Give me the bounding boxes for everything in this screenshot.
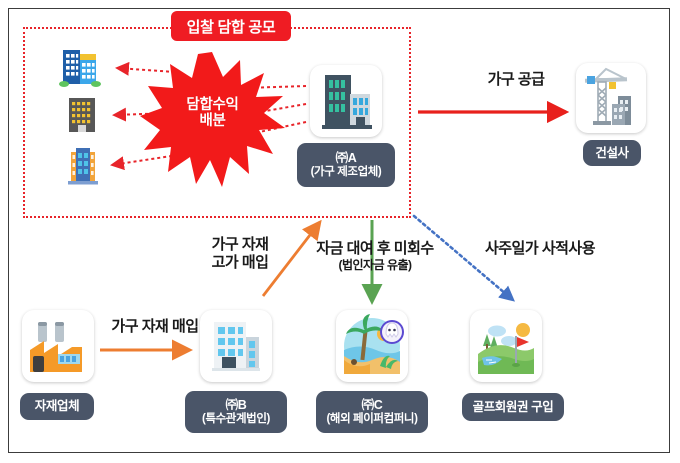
office-building-orange-icon [60, 142, 106, 188]
island-paper-company-icon [336, 310, 408, 382]
starburst-label: 담합수익 배분 [140, 97, 285, 129]
overpriced-buy-line2: 고가 매입 [212, 254, 269, 271]
diagram-canvas: 입찰 담합 공모 [0, 0, 680, 463]
office-building-blue-icon [57, 44, 103, 90]
golf-course-icon [470, 310, 542, 382]
company-c-label-pill: ㈜C (해외 페이퍼컴퍼니) [316, 391, 428, 433]
title-badge: 입찰 담합 공모 [171, 11, 291, 41]
profit-distribution-starburst: 담합수익 배분 [140, 50, 285, 190]
loan-line1: 자금 대여 후 미회수 [316, 240, 433, 257]
starburst-line2: 배분 [199, 113, 225, 129]
company-a-name: ㈜A [336, 151, 357, 166]
company-c-name: ㈜C [362, 398, 383, 413]
company-a-desc: (가구 제조업체) [311, 166, 382, 180]
golf-membership-icon-card [470, 310, 542, 382]
company-b-label-pill: ㈜B (특수관계법인) [185, 391, 287, 433]
material-buy-label: 가구 자재 매입 [100, 318, 210, 336]
golf-membership-name: 골프회원권 구입 [473, 400, 554, 415]
office-building-gray-icon [59, 92, 105, 138]
private-use-label: 사주일가 사적사용 [460, 240, 620, 258]
overpriced-buy-label: 가구 자재 고가 매입 [185, 236, 295, 273]
factory-office-icon [310, 65, 382, 137]
overpriced-buy-line1: 가구 자재 [212, 236, 269, 253]
factory-icon [22, 310, 94, 382]
company-b-icon-card [200, 310, 272, 382]
company-c-icon-card [336, 310, 408, 382]
construction-co-label-pill: 건설사 [583, 140, 641, 166]
construction-co-icon-card [576, 63, 646, 133]
construction-co-name: 건설사 [595, 146, 628, 161]
crane-construction-icon [576, 63, 646, 133]
title-badge-label: 입찰 담합 공모 [187, 16, 276, 37]
company-b-desc: (특수관계법인) [202, 413, 270, 427]
supply-edge-label: 가구 공급 [466, 71, 566, 89]
company-a-label-pill: ㈜A (가구 제조업체) [297, 143, 395, 187]
office-building-light-icon [200, 310, 272, 382]
loan-line2: (법인자금 유출) [305, 258, 445, 273]
golf-membership-label-pill: 골프회원권 구입 [462, 393, 564, 421]
starburst-line1: 담합수익 [186, 97, 238, 113]
company-b-name: ㈜B [226, 398, 247, 413]
company-c-desc: (해외 페이퍼컴퍼니) [326, 413, 417, 427]
company-a-icon-card [310, 65, 382, 137]
material-supplier-name: 자재업체 [35, 399, 79, 414]
material-supplier-label-pill: 자재업체 [20, 393, 94, 420]
loan-unrecovered-label: 자금 대여 후 미회수 (법인자금 유출) [305, 240, 445, 273]
material-supplier-icon-card [22, 310, 94, 382]
